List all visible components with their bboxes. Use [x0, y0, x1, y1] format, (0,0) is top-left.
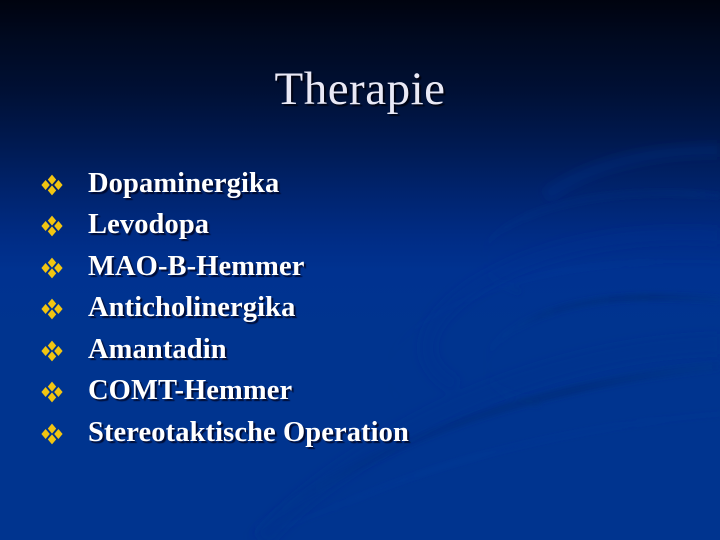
diamond-cluster-bullet-icon [40, 422, 64, 446]
list-item[interactable]: Levodopa [40, 205, 680, 247]
list-item-label: Stereotaktische Operation [88, 419, 409, 448]
slide-title: Therapie [0, 65, 720, 115]
list-item[interactable]: Amantadin [40, 329, 680, 371]
list-item-label: COMT-Hemmer [88, 377, 292, 406]
list-item[interactable]: MAO-B-Hemmer [40, 246, 680, 288]
list-item[interactable]: Dopaminergika [40, 163, 680, 205]
presentation-slide: Therapie Dopaminergika [0, 0, 720, 540]
list-item-label: Anticholinergika [88, 294, 295, 323]
diamond-cluster-bullet-icon [40, 173, 64, 197]
diamond-cluster-bullet-icon [40, 256, 64, 280]
diamond-cluster-bullet-icon [40, 297, 64, 321]
list-item[interactable]: Anticholinergika [40, 288, 680, 330]
bullet-list: Dopaminergika Levodopa [40, 163, 680, 454]
list-item-label: Amantadin [88, 336, 227, 365]
list-item-label: Levodopa [88, 211, 209, 240]
diamond-cluster-bullet-icon [40, 380, 64, 404]
list-item[interactable]: Stereotaktische Operation [40, 412, 680, 454]
diamond-cluster-bullet-icon [40, 214, 64, 238]
list-item[interactable]: COMT-Hemmer [40, 371, 680, 413]
list-item-label: MAO-B-Hemmer [88, 253, 304, 282]
diamond-cluster-bullet-icon [40, 339, 64, 363]
list-item-label: Dopaminergika [88, 170, 279, 199]
